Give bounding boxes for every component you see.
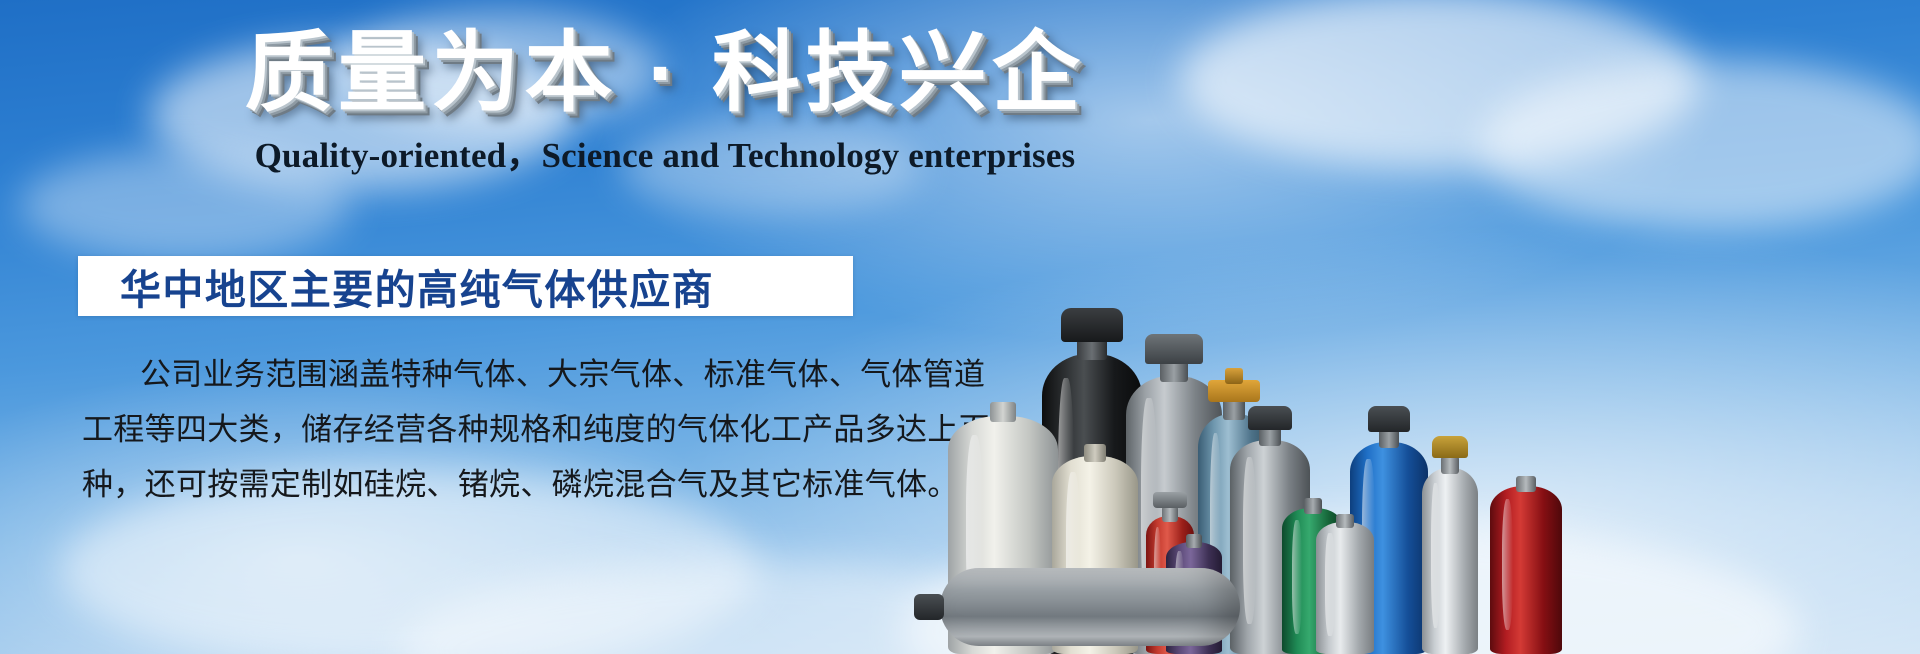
- silver-cylinder: [1422, 468, 1478, 654]
- paragraph-line: 公司业务范围涵盖特种气体、大宗气体、标准气体、气体管道: [82, 355, 872, 396]
- paragraph-line: 工程等四大类，储存经营各种规格和纯度的气体化工产品多达上百: [82, 410, 872, 451]
- highlight-text: 华中地区主要的高纯气体供应商: [120, 256, 714, 316]
- description-paragraph: 公司业务范围涵盖特种气体、大宗气体、标准气体、气体管道 工程等四大类，储存经营各…: [82, 355, 872, 520]
- highlight-box: 华中地区主要的高纯气体供应商: [78, 256, 853, 316]
- dark-red-cylinder: [1490, 486, 1562, 654]
- paragraph-line: 种，还可按需定制如硅烷、锗烷、磷烷混合气及其它标准气体。: [82, 465, 872, 506]
- tank-valve-icon: [914, 594, 944, 620]
- silver-cylinder: [1316, 522, 1374, 654]
- page-title: 质量为本 · 科技兴企: [0, 26, 1330, 119]
- gas-cylinders-image: [930, 130, 1920, 654]
- horizontal-tank: [940, 568, 1240, 646]
- hero-banner: 质量为本 · 科技兴企 Quality-oriented，Science and…: [0, 0, 1920, 654]
